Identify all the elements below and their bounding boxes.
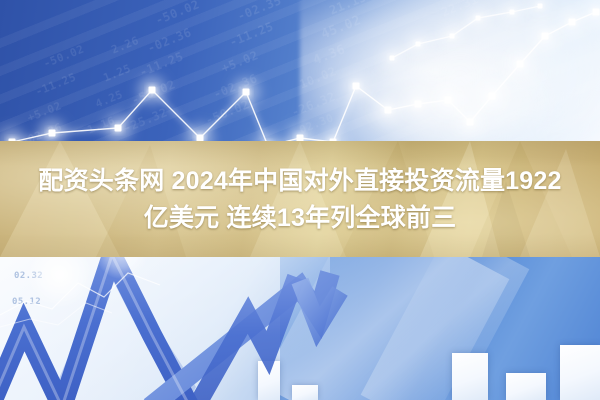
- sky-background: [0, 0, 600, 160]
- headline-line-1: 配资头条网 2024年中国对外直接投资流量1922: [0, 163, 600, 200]
- lower-graphic-section: 02.3205.12: [0, 257, 600, 400]
- headline-line-2: 亿美元 连续13年列全球前三: [0, 200, 600, 237]
- blue-chart-panel: [280, 257, 600, 400]
- cloud-blob: [300, 0, 600, 155]
- lower-ticker-number: 02.32: [14, 271, 43, 281]
- headline-text: 配资头条网 2024年中国对外直接投资流量1922 亿美元 连续13年列全球前三: [0, 163, 600, 237]
- chart-bar: [292, 385, 318, 400]
- chart-bar: [258, 361, 280, 400]
- news-banner-image: -50.02-11.25+5.02-02.362.261.254.251.16-…: [0, 0, 600, 400]
- chart-bar: [560, 345, 600, 400]
- chart-bar: [452, 353, 488, 400]
- lower-ticker-number: 05.12: [12, 297, 41, 307]
- chart-bar: [506, 373, 546, 400]
- glow-dot-center: [96, 257, 148, 279]
